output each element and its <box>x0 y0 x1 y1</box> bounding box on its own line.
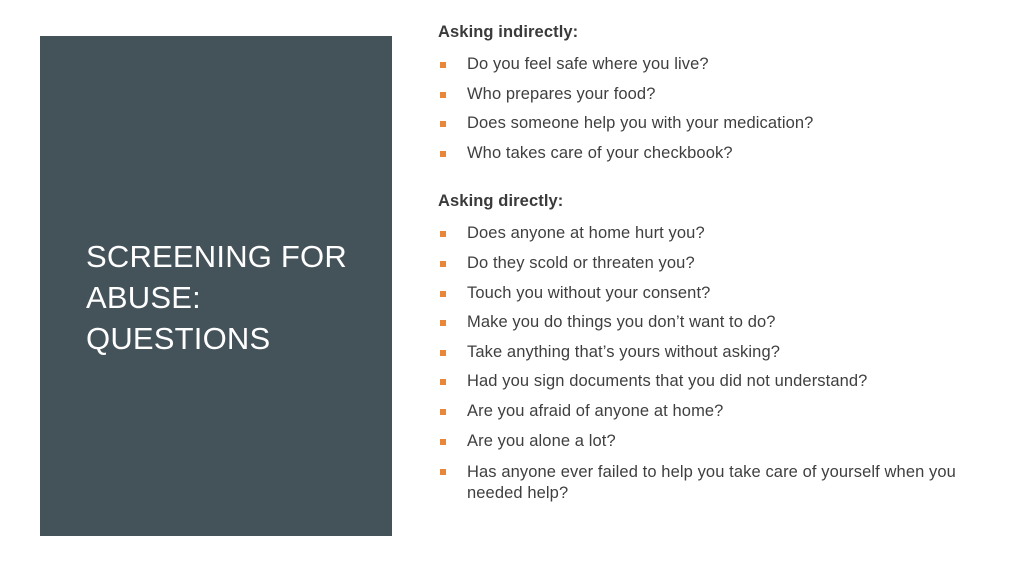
title-panel: SCREENING FOR ABUSE: QUESTIONS <box>40 36 392 536</box>
bullet-list-asking-indirectly: Do you feel safe where you live? Who pre… <box>438 50 994 168</box>
square-bullet-icon <box>440 92 446 98</box>
section-asking-indirectly: Asking indirectly: Do you feel safe wher… <box>438 20 994 168</box>
section-heading: Asking directly: <box>438 189 994 213</box>
square-bullet-icon <box>440 379 446 385</box>
square-bullet-icon <box>440 320 446 326</box>
square-bullet-icon <box>440 439 446 445</box>
square-bullet-icon <box>440 261 446 267</box>
square-bullet-icon <box>440 469 446 475</box>
list-item: Are you afraid of anyone at home? <box>438 397 994 427</box>
list-item-label: Are you alone a lot? <box>467 432 616 450</box>
list-item-label: Who prepares your food? <box>467 85 656 103</box>
list-item: Has anyone ever failed to help you take … <box>438 456 994 504</box>
list-item-label: Does anyone at home hurt you? <box>467 224 705 242</box>
list-item-label: Who takes care of your checkbook? <box>467 144 733 162</box>
list-item: Who takes care of your checkbook? <box>438 139 994 169</box>
square-bullet-icon <box>440 62 446 68</box>
square-bullet-icon <box>440 121 446 127</box>
square-bullet-icon <box>440 409 446 415</box>
list-item: Do they scold or threaten you? <box>438 249 994 279</box>
bullet-list-asking-directly: Does anyone at home hurt you? Do they sc… <box>438 219 994 504</box>
list-item-label: Has anyone ever failed to help you take … <box>467 463 956 502</box>
slide-title: SCREENING FOR ABUSE: QUESTIONS <box>86 236 376 359</box>
content-column: Asking indirectly: Do you feel safe wher… <box>438 20 994 504</box>
list-item: Had you sign documents that you did not … <box>438 367 994 397</box>
square-bullet-icon <box>440 291 446 297</box>
list-item-label: Do they scold or threaten you? <box>467 254 695 272</box>
list-item: Are you alone a lot? <box>438 427 994 457</box>
list-item: Take anything that’s yours without askin… <box>438 338 994 368</box>
list-item-label: Touch you without your consent? <box>467 284 710 302</box>
list-item-label: Had you sign documents that you did not … <box>467 372 867 390</box>
list-item-label: Make you do things you don’t want to do? <box>467 313 776 331</box>
list-item: Make you do things you don’t want to do? <box>438 308 994 338</box>
section-heading: Asking indirectly: <box>438 20 994 44</box>
list-item: Does anyone at home hurt you? <box>438 219 994 249</box>
list-item-label: Are you afraid of anyone at home? <box>467 402 723 420</box>
list-item: Do you feel safe where you live? <box>438 50 994 80</box>
section-asking-directly: Asking directly: Does anyone at home hur… <box>438 189 994 504</box>
list-item: Who prepares your food? <box>438 80 994 110</box>
list-item-label: Do you feel safe where you live? <box>467 55 709 73</box>
list-item-label: Take anything that’s yours without askin… <box>467 343 780 361</box>
list-item-label: Does someone help you with your medicati… <box>467 114 813 132</box>
square-bullet-icon <box>440 350 446 356</box>
square-bullet-icon <box>440 231 446 237</box>
square-bullet-icon <box>440 151 446 157</box>
list-item: Touch you without your consent? <box>438 279 994 309</box>
list-item: Does someone help you with your medicati… <box>438 109 994 139</box>
